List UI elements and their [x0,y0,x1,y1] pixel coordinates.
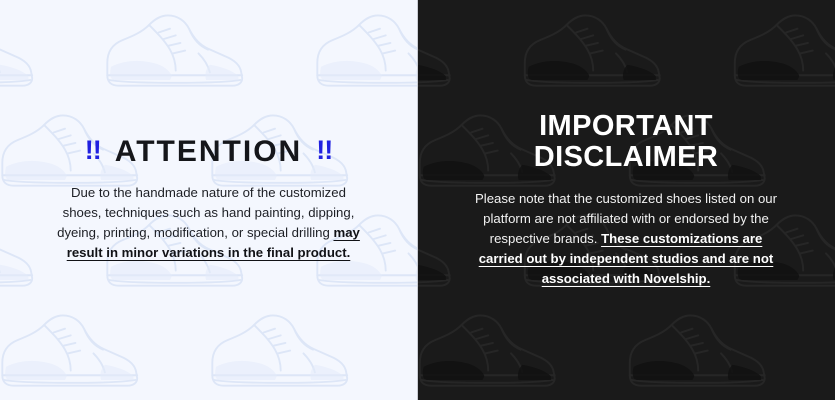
double-exclamation-right-icon: !! [316,137,332,165]
disclaimer-heading: IMPORTANT DISCLAIMER [461,111,791,174]
disclaimer-panel: IMPORTANT DISCLAIMER Please note that th… [417,0,835,400]
disclaimer-content: IMPORTANT DISCLAIMER Please note that th… [417,111,835,289]
disclaimer-banner: !! ATTENTION !! Due to the handmade natu… [0,0,835,400]
double-exclamation-left-icon: !! [85,137,101,165]
disclaimer-body: Please note that the customized shoes li… [467,189,785,289]
attention-content: !! ATTENTION !! Due to the handmade natu… [0,137,417,264]
disclaimer-heading-line1: IMPORTANT [539,110,713,142]
attention-heading-text: ATTENTION [115,137,302,168]
attention-body-plain: Due to the handmade nature of the custom… [57,185,354,240]
disclaimer-heading-line2: DISCLAIMER [534,141,718,173]
attention-body: Due to the handmade nature of the custom… [56,183,362,263]
attention-panel: !! ATTENTION !! Due to the handmade natu… [0,0,417,400]
attention-heading: !! ATTENTION !! [26,137,391,168]
